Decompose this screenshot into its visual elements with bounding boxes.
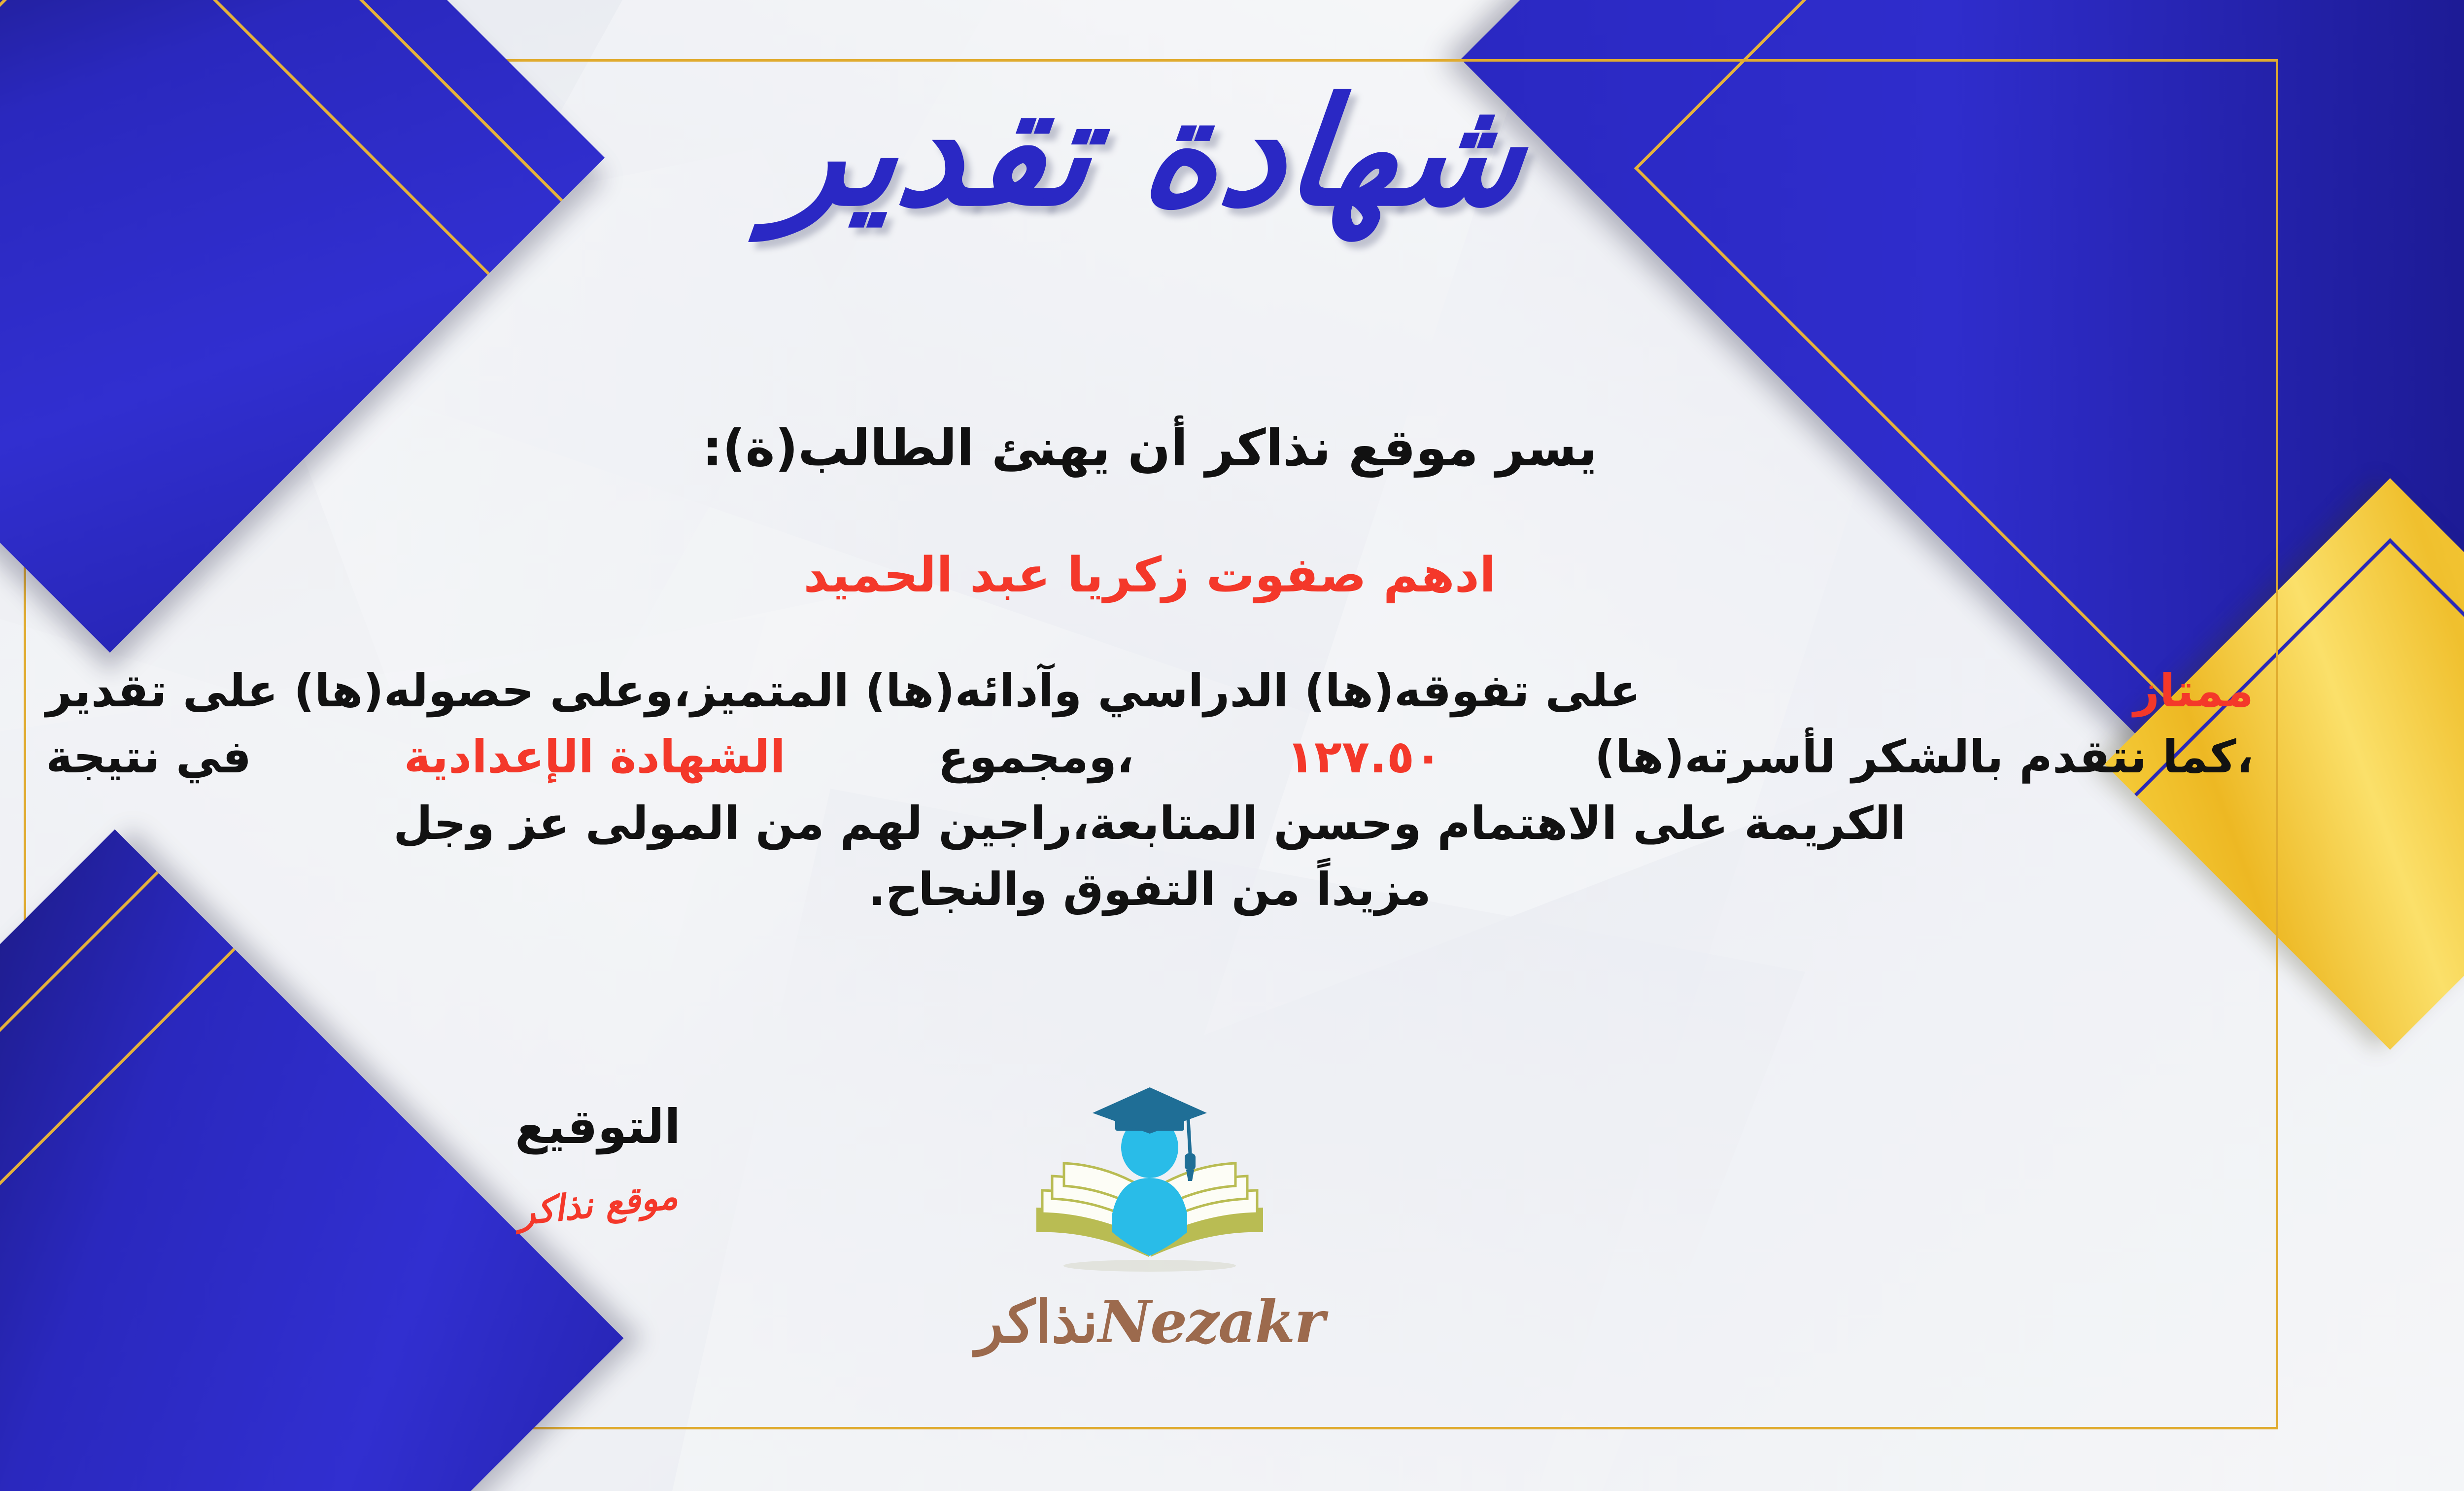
total-score-value: ١٢٧.٥٠ xyxy=(1287,724,1442,790)
logo-name-ar: نذاكر xyxy=(975,1287,1098,1356)
grade-value: ممتاز xyxy=(2133,658,2254,724)
intro-text: يسر موقع نذاكر أن يهنئ الطالب(ة): xyxy=(41,419,2259,478)
body-line-1: ممتاز على تفوقه(ها) الدراسي وآدائه(ها) ا… xyxy=(46,658,2254,724)
body-line-1-text: على تفوقه(ها) الدراسي وآدائه(ها) المتميز… xyxy=(46,658,1641,724)
certificate-body: ممتاز على تفوقه(ها) الدراسي وآدائه(ها) ا… xyxy=(46,658,2254,923)
body-line-2: ،كما نتقدم بالشكر لأسرته(ها) ١٢٧.٥٠ ،ومج… xyxy=(46,724,2254,790)
logo-name-en: Nezakr xyxy=(1098,1287,1324,1356)
body-line-2-mid-text: ،ومجموع xyxy=(938,724,1134,790)
body-line-4: مزيداً من التفوق والنجاح. xyxy=(46,857,2254,923)
body-line-2-right-text: في نتيجة xyxy=(46,724,251,790)
certificate-page: شهادة تقدير يسر موقع نذاكر أن يهنئ الطال… xyxy=(0,0,2464,1491)
exam-name-value: الشهادة الإعدادية xyxy=(404,724,786,790)
body-line-2-left-text: ،كما نتقدم بالشكر لأسرته(ها) xyxy=(1595,724,2254,790)
graduate-book-logo-icon xyxy=(1017,1084,1283,1296)
body-line-3: الكريمة على الاهتمام وحسن المتابعة،راجين… xyxy=(46,791,2254,857)
certificate-title: شهادة تقدير xyxy=(33,79,2266,227)
logo-wordmark: Nezakrنذاكر xyxy=(975,1287,1324,1356)
certificate-content: شهادة تقدير يسر موقع نذاكر أن يهنئ الطال… xyxy=(41,74,2259,1415)
student-name: ادهم صفوت زكريا عبد الحميد xyxy=(41,547,2259,603)
site-logo: Nezakrنذاكر xyxy=(41,1084,2259,1356)
